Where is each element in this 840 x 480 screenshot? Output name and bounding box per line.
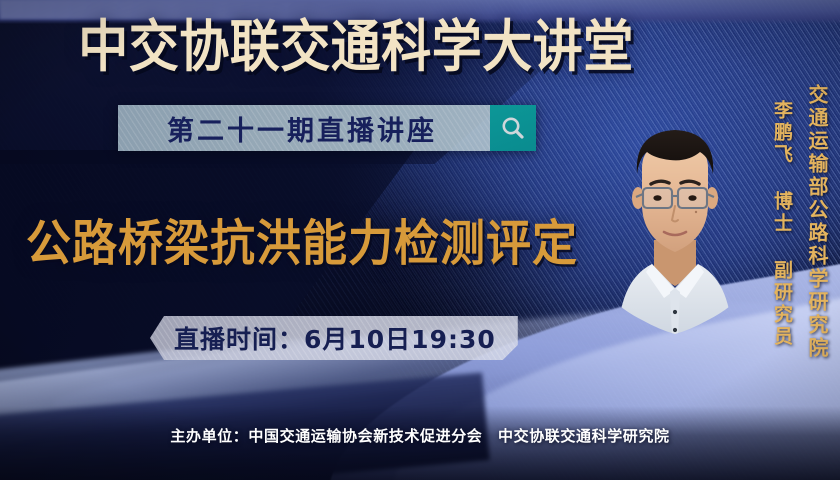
organizer-footer: 主办单位：中国交通运输协会新技术促进分会 中交协联交通科学研究院 [0,425,840,446]
vignette-overlay [0,0,840,480]
live-lecture-poster: 中交协联交通科学大讲堂 第二十一期直播讲座 公路桥梁抗洪能力检测评定 直播时间：… [0,0,840,480]
